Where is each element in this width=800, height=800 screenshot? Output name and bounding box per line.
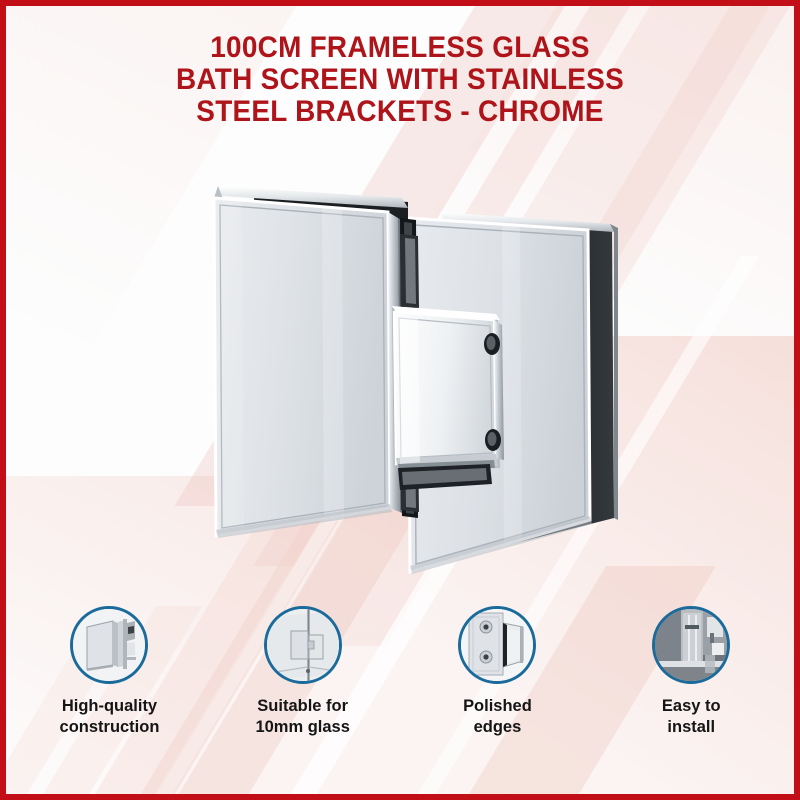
product-image (202, 168, 622, 588)
bathroom-install-photo-icon (655, 609, 727, 681)
feature-item-polished-edges: Polished edges (407, 606, 587, 737)
feature-item-suitable-for-10mm-glass: Suitable for 10mm glass (213, 606, 393, 737)
polished-hinge-plate-icon (461, 609, 533, 681)
feature-label-3-line-2: edges (463, 716, 532, 737)
product-marketing-image: 100CM FRAMELESS GLASS BATH SCREEN WITH S… (0, 0, 800, 800)
feature-label-2-line-1: Suitable for (256, 695, 350, 716)
hinge-on-glass-edge-icon (267, 609, 339, 681)
feature-label-1-line-2: construction (59, 716, 159, 737)
feature-label-2-line-2: 10mm glass (256, 716, 350, 737)
feature-circle-3 (458, 606, 536, 684)
feature-label-2: Suitable for 10mm glass (256, 695, 350, 737)
feature-list: High-quality construction (12, 606, 788, 776)
feature-label-1-line-1: High-quality (59, 695, 159, 716)
feature-circle-1 (70, 606, 148, 684)
feature-label-4-line-2: install (662, 716, 721, 737)
feature-circle-4 (652, 606, 730, 684)
title-line-1: 100CM FRAMELESS GLASS (34, 32, 767, 64)
feature-label-1: High-quality construction (59, 695, 159, 737)
page-title: 100CM FRAMELESS GLASS BATH SCREEN WITH S… (6, 32, 794, 128)
title-line-3: STEEL BRACKETS - CHROME (34, 96, 767, 128)
feature-circle-2 (264, 606, 342, 684)
glass-panel-construction-icon (73, 609, 145, 681)
feature-label-3: Polished edges (463, 695, 532, 737)
feature-label-4-line-1: Easy to (662, 695, 721, 716)
feature-item-high-quality-construction: High-quality construction (19, 606, 199, 737)
feature-item-easy-to-install: Easy to install (601, 606, 781, 737)
feature-label-3-line-1: Polished (463, 695, 532, 716)
feature-label-4: Easy to install (662, 695, 721, 737)
title-line-2: BATH SCREEN WITH STAINLESS (34, 64, 767, 96)
